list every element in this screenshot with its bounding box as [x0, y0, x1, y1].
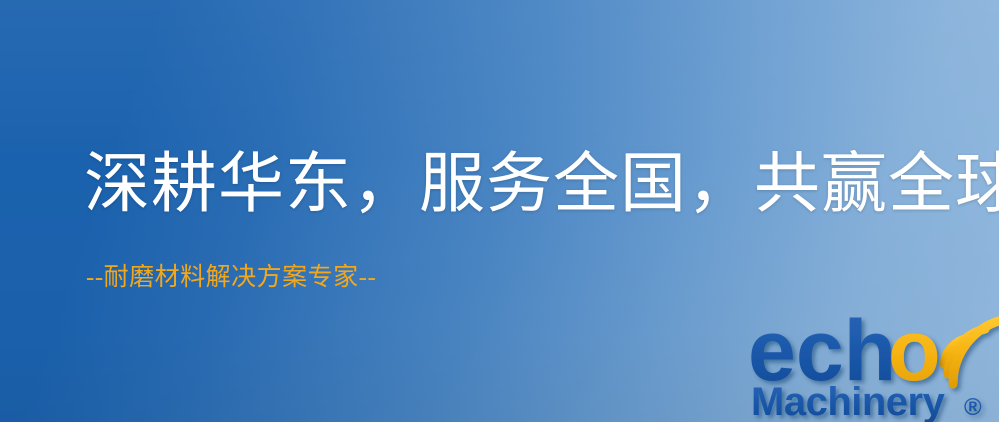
echo-machinery-logo: ech o Machinery ® — [748, 296, 999, 422]
banner-headline: 深耕华东，服务全国，共赢全球 — [84, 152, 999, 218]
promo-banner: 深耕华东，服务全国，共赢全球 --耐磨材料解决方案专家-- — [0, 0, 999, 422]
logo-registered-mark: ® — [964, 394, 982, 421]
signal-wave-icon — [944, 320, 999, 384]
banner-subtitle: --耐磨材料解决方案专家-- — [86, 265, 376, 290]
logo-tagline: Machinery — [751, 380, 946, 422]
